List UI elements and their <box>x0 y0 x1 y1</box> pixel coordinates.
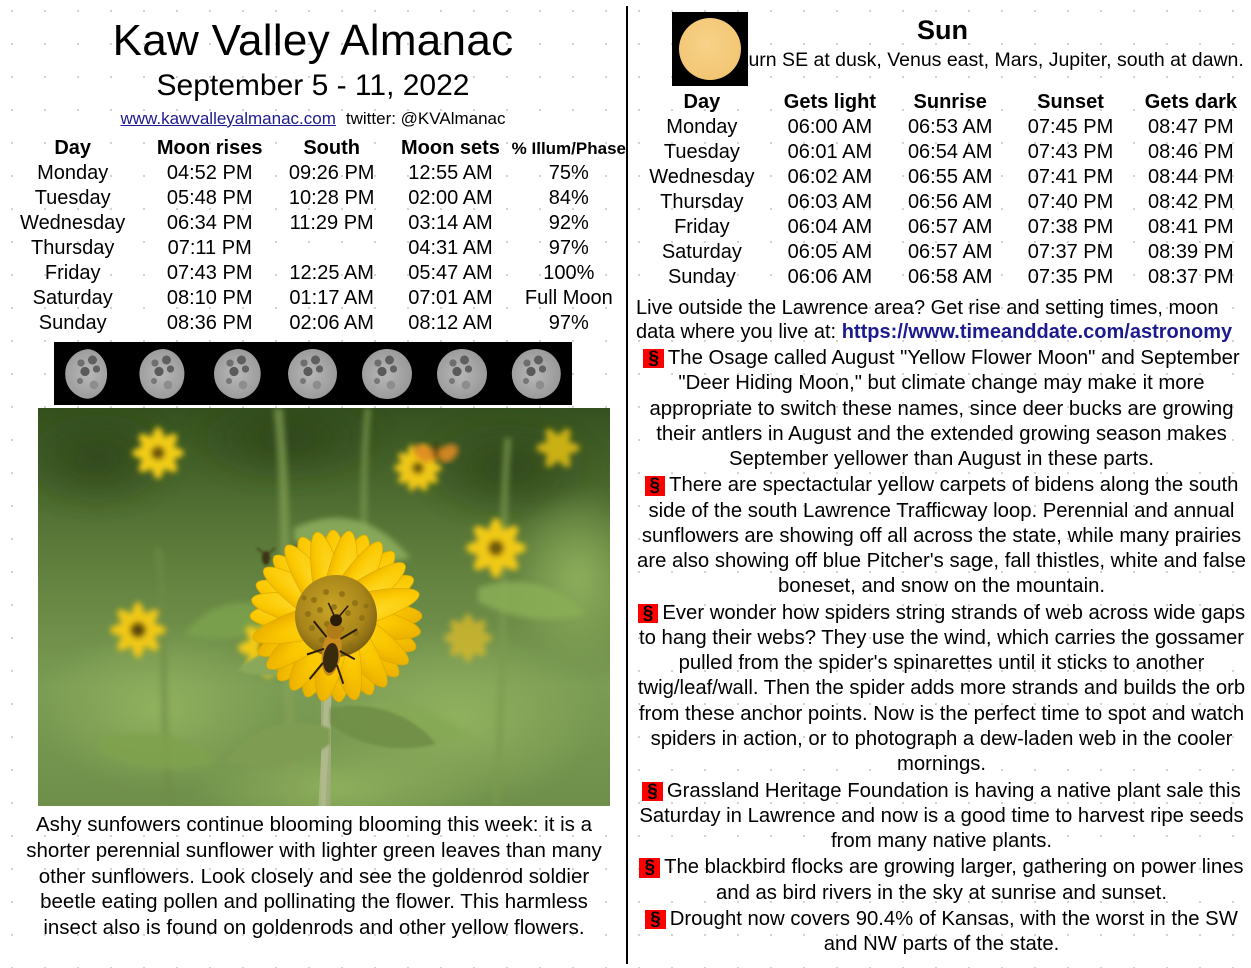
cell-sunrise: 06:55 AM <box>890 165 1010 190</box>
cell-getsdark: 08:47 PM <box>1131 115 1251 140</box>
moon-phase-icon <box>54 342 126 405</box>
cell-illum: Full Moon <box>512 286 626 311</box>
cell-illum: 97% <box>512 236 626 261</box>
sun-col-day: Day <box>634 90 770 115</box>
cell-rises: 07:43 PM <box>145 261 274 286</box>
cell-illum: 97% <box>512 311 626 336</box>
cell-sunrise: 06:58 AM <box>890 265 1010 290</box>
date-range: September 5 - 11, 2022 <box>0 70 626 102</box>
cell-getslight: 06:04 AM <box>770 215 890 240</box>
sun-header: Sun Saturn SE at dusk, Venus east, Mars,… <box>634 0 1251 88</box>
photo-caption: Ashy sunfowers continue blooming bloomin… <box>22 812 606 941</box>
bullet-text: The blackbird flocks are growing larger,… <box>664 856 1243 903</box>
table-row: Tuesday 06:01 AM 06:54 AM 07:43 PM 08:46… <box>634 140 1251 165</box>
cell-sunset: 07:38 PM <box>1010 215 1130 240</box>
cell-sunrise: 06:57 AM <box>890 240 1010 265</box>
butterfly <box>414 443 458 462</box>
moon-phase-icon <box>425 342 497 405</box>
cell-getsdark: 08:37 PM <box>1131 265 1251 290</box>
moon-col-rises: Moon rises <box>145 136 274 161</box>
sun-col-getsdark: Gets dark <box>1131 90 1251 115</box>
cell-sunrise: 06:53 AM <box>890 115 1010 140</box>
moon-col-day: Day <box>0 136 145 161</box>
table-row: Monday 06:00 AM 06:53 AM 07:45 PM 08:47 … <box>634 115 1251 140</box>
contact-line: www.kawvalleyalmanac.comtwitter: @KVAlma… <box>0 110 626 129</box>
section-marker-icon: § <box>645 910 666 929</box>
masthead: Kaw Valley Almanac September 5 - 11, 202… <box>0 0 626 128</box>
cell-rises: 08:36 PM <box>145 311 274 336</box>
section-marker-icon: § <box>638 604 659 623</box>
cell-sunrise: 06:54 AM <box>890 140 1010 165</box>
cell-south: 01:17 AM <box>274 286 389 311</box>
cell-day: Tuesday <box>0 186 145 211</box>
bullet-text: The Osage called August "Yellow Flower M… <box>650 347 1240 470</box>
cell-day: Sunday <box>0 311 145 336</box>
list-item: §Ever wonder how spiders string strands … <box>636 601 1247 778</box>
cell-day: Monday <box>634 115 770 140</box>
moon-phase-icon <box>500 342 572 405</box>
table-row: Monday 04:52 PM 09:26 PM 12:55 AM 75% <box>0 161 626 186</box>
sun-col-sunset: Sunset <box>1010 90 1130 115</box>
cell-sunset: 07:41 PM <box>1010 165 1130 190</box>
bullet-text: Drought now covers 90.4% of Kansas, with… <box>670 908 1238 955</box>
cell-south <box>274 236 389 261</box>
cell-day: Sunday <box>634 265 770 290</box>
cell-rises: 05:48 PM <box>145 186 274 211</box>
cell-sunrise: 06:57 AM <box>890 215 1010 240</box>
cell-rises: 06:34 PM <box>145 211 274 236</box>
feature-photo <box>38 408 610 806</box>
cell-getsdark: 08:41 PM <box>1131 215 1251 240</box>
cell-sunset: 07:43 PM <box>1010 140 1130 165</box>
cell-day: Wednesday <box>634 165 770 190</box>
cell-south: 10:28 PM <box>274 186 389 211</box>
table-row: Wednesday 06:34 PM 11:29 PM 03:14 AM 92% <box>0 211 626 236</box>
moon-phase-icon <box>128 342 200 405</box>
cell-getsdark: 08:39 PM <box>1131 240 1251 265</box>
cell-rises: 07:11 PM <box>145 236 274 261</box>
cell-day: Saturday <box>634 240 770 265</box>
list-item: §Drought now covers 90.4% of Kansas, wit… <box>636 907 1247 958</box>
section-marker-icon: § <box>642 782 663 801</box>
cell-day: Tuesday <box>634 140 770 165</box>
table-row: Saturday 06:05 AM 06:57 AM 07:37 PM 08:3… <box>634 240 1251 265</box>
cell-illum: 92% <box>512 211 626 236</box>
sun-table-header-row: Day Gets light Sunrise Sunset Gets dark <box>634 90 1251 115</box>
timeanddate-link[interactable]: https://www.timeanddate.com/astronomy <box>842 321 1232 343</box>
moon-col-illum: % Illum/Phase <box>512 136 626 161</box>
table-row: Saturday 08:10 PM 01:17 AM 07:01 AM Full… <box>0 286 626 311</box>
moon-phase-icon <box>277 342 349 405</box>
bullet-text: Grassland Heritage Foundation is having … <box>639 780 1243 853</box>
section-marker-icon: § <box>645 476 666 495</box>
table-row: Friday 07:43 PM 12:25 AM 05:47 AM 100% <box>0 261 626 286</box>
cell-day: Saturday <box>0 286 145 311</box>
cell-sets: 04:31 AM <box>389 236 511 261</box>
cell-sets: 02:00 AM <box>389 186 511 211</box>
cell-getslight: 06:02 AM <box>770 165 890 190</box>
cell-day: Wednesday <box>0 211 145 236</box>
cell-south: 11:29 PM <box>274 211 389 236</box>
cell-getslight: 06:05 AM <box>770 240 890 265</box>
cell-getslight: 06:03 AM <box>770 190 890 215</box>
cell-rises: 04:52 PM <box>145 161 274 186</box>
cell-sets: 12:55 AM <box>389 161 511 186</box>
cell-sunset: 07:37 PM <box>1010 240 1130 265</box>
table-row: Tuesday 05:48 PM 10:28 PM 02:00 AM 84% <box>0 186 626 211</box>
right-column: Sun Saturn SE at dusk, Venus east, Mars,… <box>628 0 1251 968</box>
bullet-text: Ever wonder how spiders string strands o… <box>638 602 1245 776</box>
cell-illum: 75% <box>512 161 626 186</box>
cell-getsdark: 08:46 PM <box>1131 140 1251 165</box>
cell-rises: 08:10 PM <box>145 286 274 311</box>
table-row: Thursday 06:03 AM 06:56 AM 07:40 PM 08:4… <box>634 190 1251 215</box>
table-row: Friday 06:04 AM 06:57 AM 07:38 PM 08:41 … <box>634 215 1251 240</box>
sun-table: Day Gets light Sunrise Sunset Gets dark … <box>634 90 1251 290</box>
cell-sets: 07:01 AM <box>389 286 511 311</box>
table-row: Sunday 08:36 PM 02:06 AM 08:12 AM 97% <box>0 311 626 336</box>
live-outside-note: Live outside the Lawrence area? Get rise… <box>634 296 1251 344</box>
moon-table-header-row: Day Moon rises South Moon sets % Illum/P… <box>0 136 626 161</box>
cell-sets: 05:47 AM <box>389 261 511 286</box>
moon-phase-strip <box>54 342 572 405</box>
cell-day: Friday <box>634 215 770 240</box>
cell-south: 02:06 AM <box>274 311 389 336</box>
moon-col-south: South <box>274 136 389 161</box>
sunflower-meadow-illustration <box>38 408 610 806</box>
list-item: §The blackbird flocks are growing larger… <box>636 855 1247 906</box>
cell-sunrise: 06:56 AM <box>890 190 1010 215</box>
cell-south: 12:25 AM <box>274 261 389 286</box>
cell-getslight: 06:06 AM <box>770 265 890 290</box>
twitter-handle: twitter: @KVAlmanac <box>346 109 506 128</box>
two-column-layout: Kaw Valley Almanac September 5 - 11, 202… <box>0 0 1251 968</box>
cell-day: Thursday <box>0 236 145 261</box>
table-row: Sunday 06:06 AM 06:58 AM 07:35 PM 08:37 … <box>634 265 1251 290</box>
cell-getsdark: 08:42 PM <box>1131 190 1251 215</box>
cell-getslight: 06:01 AM <box>770 140 890 165</box>
list-item: §There are spectactular yellow carpets o… <box>636 473 1247 599</box>
cell-sets: 03:14 AM <box>389 211 511 236</box>
list-item: §Grassland Heritage Foundation is having… <box>636 779 1247 855</box>
sun-col-sunrise: Sunrise <box>890 90 1010 115</box>
cell-south: 09:26 PM <box>274 161 389 186</box>
cell-day: Thursday <box>634 190 770 215</box>
list-item: §The Osage called August "Yellow Flower … <box>636 346 1247 472</box>
moon-table: Day Moon rises South Moon sets % Illum/P… <box>0 136 626 336</box>
section-marker-icon: § <box>643 349 664 368</box>
moon-col-sets: Moon sets <box>389 136 511 161</box>
cell-illum: 84% <box>512 186 626 211</box>
table-row: Thursday 07:11 PM 04:31 AM 97% <box>0 236 626 261</box>
cell-day: Friday <box>0 261 145 286</box>
bullet-text: There are spectactular yellow carpets of… <box>637 474 1246 597</box>
almanac-page: Kaw Valley Almanac September 5 - 11, 202… <box>0 0 1251 968</box>
website-link[interactable]: www.kawvalleyalmanac.com <box>120 109 335 128</box>
cell-sunset: 07:45 PM <box>1010 115 1130 140</box>
moon-phase-icon <box>351 342 423 405</box>
sun-icon <box>672 12 748 86</box>
cell-getsdark: 08:44 PM <box>1131 165 1251 190</box>
cell-getslight: 06:00 AM <box>770 115 890 140</box>
news-bullet-list: §The Osage called August "Yellow Flower … <box>634 346 1251 957</box>
cell-day: Monday <box>0 161 145 186</box>
cell-sunset: 07:40 PM <box>1010 190 1130 215</box>
cell-sets: 08:12 AM <box>389 311 511 336</box>
moon-phase-icon <box>203 342 275 405</box>
cell-illum: 100% <box>512 261 626 286</box>
table-row: Wednesday 06:02 AM 06:55 AM 07:41 PM 08:… <box>634 165 1251 190</box>
left-column: Kaw Valley Almanac September 5 - 11, 202… <box>0 0 626 968</box>
page-title: Kaw Valley Almanac <box>0 18 626 64</box>
section-marker-icon: § <box>639 858 660 877</box>
sun-col-getslight: Gets light <box>770 90 890 115</box>
cell-sunset: 07:35 PM <box>1010 265 1130 290</box>
